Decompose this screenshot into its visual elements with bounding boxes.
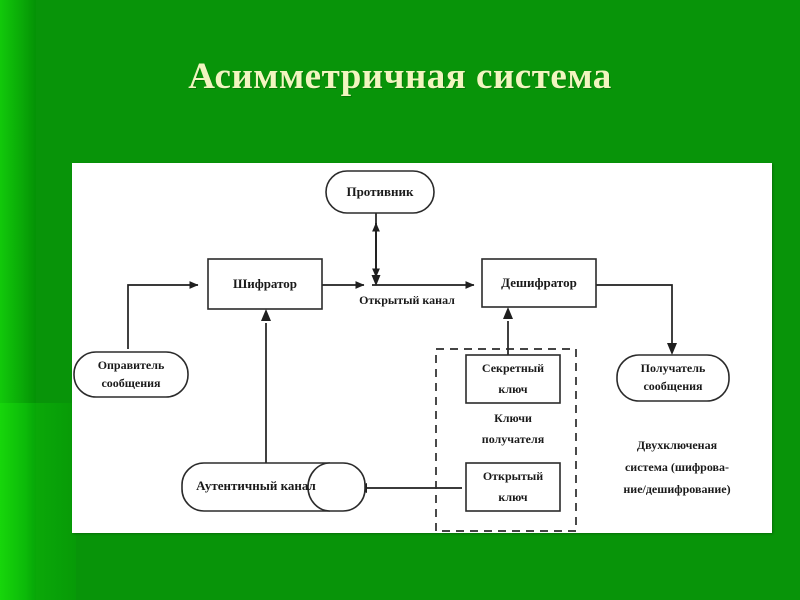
node-receiver[interactable]: Получатель сообщения: [617, 355, 729, 401]
background-accent-band-bottom: [0, 403, 36, 600]
node-sender[interactable]: Оправитель сообщения: [74, 352, 188, 397]
background-accent-band-bottom-2: [36, 403, 76, 600]
node-auth-channel-label: Аутентичный канал: [196, 478, 316, 493]
label-recipient-keys-line1: Ключи: [494, 411, 532, 425]
slide-canvas: Асимметричная система: [0, 0, 800, 600]
node-auth-channel[interactable]: Аутентичный канал: [182, 463, 365, 511]
node-public-key-label-line1: Открытый: [483, 469, 543, 483]
node-receiver-label-line1: Получатель: [641, 361, 706, 375]
node-secret-key-label-line1: Секретный: [482, 361, 544, 375]
node-public-key[interactable]: Открытый ключ: [466, 463, 560, 511]
label-two-key-system-line2: система (шифрова-: [625, 460, 729, 474]
label-recipient-keys-line2: получателя: [482, 432, 545, 446]
edge-public-key-to-auth-channel: [355, 483, 462, 493]
node-public-key-label-line2: ключ: [498, 490, 527, 504]
node-adversary-label: Противник: [346, 184, 414, 199]
node-receiver-label-line2: сообщения: [643, 379, 703, 393]
edge-auth-channel-to-encryptor: [261, 309, 271, 481]
edge-sender-to-encryptor: [128, 285, 198, 349]
node-sender-label-line1: Оправитель: [98, 358, 165, 372]
node-encryptor-label: Шифратор: [233, 276, 297, 291]
node-decryptor[interactable]: Дешифратор: [482, 259, 596, 307]
node-encryptor[interactable]: Шифратор: [208, 259, 322, 309]
edge-secret-key-to-decryptor: [503, 307, 513, 355]
edge-decryptor-to-receiver: [596, 285, 677, 355]
node-sender-label-line2: сообщения: [101, 376, 161, 390]
label-two-key-system-line1: Двухключеная: [637, 438, 718, 452]
diagram-panel: Противник Шифратор Дешифратор Оправитель…: [72, 163, 772, 533]
node-secret-key[interactable]: Секретный ключ: [466, 355, 560, 403]
label-two-key-system-line3: ние/дешифрование): [623, 482, 730, 496]
node-decryptor-label: Дешифратор: [501, 275, 577, 290]
node-secret-key-label-line2: ключ: [498, 382, 527, 396]
node-adversary[interactable]: Противник: [326, 171, 434, 213]
slide-title: Асимметричная система: [0, 55, 800, 98]
label-open-channel: Открытый канал: [359, 293, 455, 307]
